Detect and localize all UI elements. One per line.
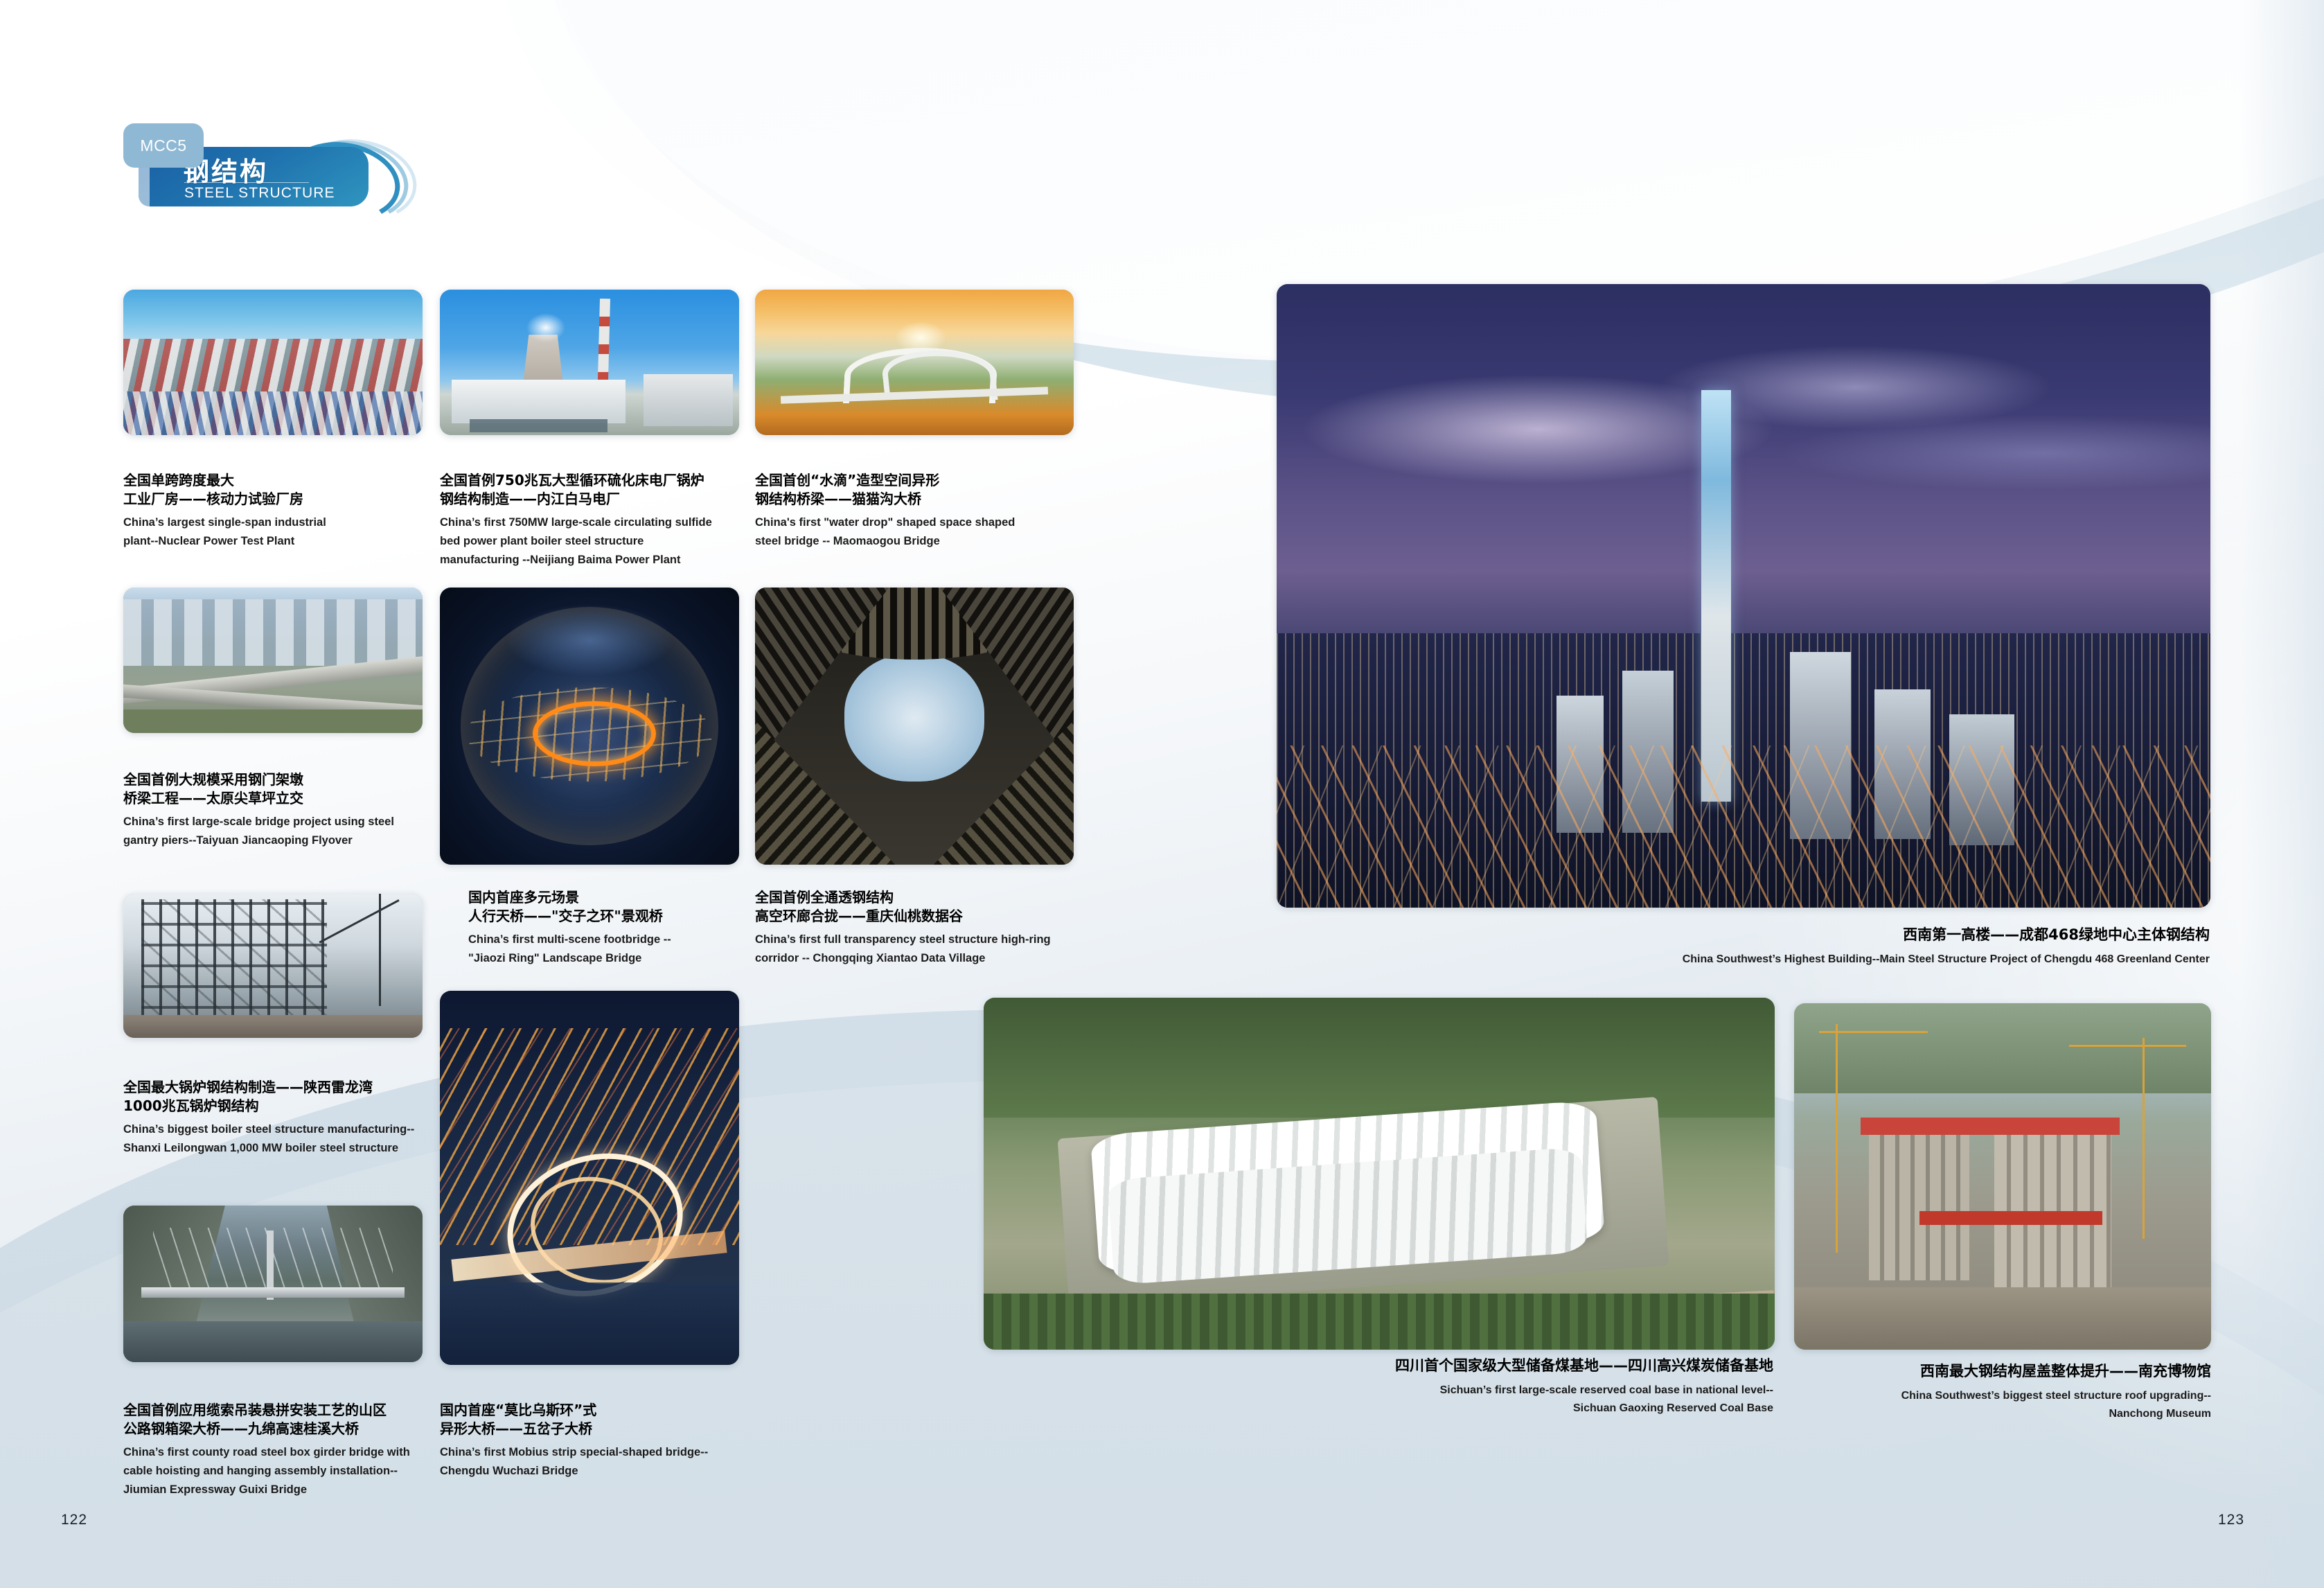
caption-title-en: China’s first large-scale bridge project… (123, 813, 435, 849)
section-header: 钢结构 STEEL STRUCTURE MCC5 (123, 123, 400, 208)
photo-neijiang-baima-power-plant (440, 290, 739, 435)
scene-high-ring-corridor (755, 588, 1074, 865)
photo-nanchong-museum (1794, 1003, 2211, 1350)
photo-chongqing-xiantao-data-village (755, 588, 1074, 865)
caption-title-cn: 西南第一高楼——成都468绿地中心主体钢结构 (1316, 926, 2210, 945)
photo-nuclear-power-test-plant (123, 290, 423, 435)
caption-title-en: China’s first 750MW large-scale circulat… (440, 513, 759, 569)
caption-title-cn: 全国首创“水滴”造型空间异形 钢结构桥梁——猫猫沟大桥 (755, 471, 1081, 508)
scene-industrial-plant (123, 290, 423, 435)
caption-chongqing-xiantao-data-village: 全国首例全通透钢结构 高空环廊合拢——重庆仙桃数据谷 China’s first… (755, 888, 1088, 968)
page-edge-shading (2241, 0, 2324, 1588)
caption-title-cn: 全国首例全通透钢结构 高空环廊合拢——重庆仙桃数据谷 (755, 888, 1088, 925)
caption-title-en: China's first "water drop" shaped space … (755, 513, 1081, 550)
scene-canyon-cable-bridge (123, 1206, 423, 1362)
caption-sichuan-gaoxing-reserved-coal-base: 四川首个国家级大型储备煤基地——四川高兴煤炭储备基地 Sichuan’s fir… (1039, 1357, 1773, 1418)
scene-fisheye-ring-bridge (440, 588, 739, 865)
header-divider (184, 182, 309, 183)
caption-title-en: China’s first Mobius strip special-shape… (440, 1443, 745, 1480)
caption-title-cn: 国内首座“莫比乌斯环”式 异形大桥——五岔子大桥 (440, 1401, 745, 1438)
caption-title-en: China’s largest single-span industrial p… (123, 513, 428, 550)
caption-jiumian-expressway-guixi-bridge: 全国首例应用缆索吊装悬拼安装工艺的山区 公路钢箱梁大桥——九绵高速桂溪大桥 Ch… (123, 1401, 435, 1499)
caption-title-cn: 全国首例750兆瓦大型循环硫化床电厂锅炉 钢结构制造——内江白马电厂 (440, 471, 759, 508)
caption-neijiang-baima-power-plant: 全国首例750兆瓦大型循环硫化床电厂锅炉 钢结构制造——内江白马电厂 China… (440, 471, 759, 569)
magazine-spread: 钢结构 STEEL STRUCTURE MCC5 (0, 0, 2324, 1588)
caption-title-en: China’s biggest boiler steel structure m… (123, 1120, 435, 1157)
caption-title-cn: 全国最大锅炉钢结构制造——陕西雷龙湾 1000兆瓦锅炉钢结构 (123, 1078, 435, 1115)
caption-title-en: Sichuan’s first large-scale reserved coa… (1039, 1382, 1773, 1418)
caption-title-en: China’s first county road steel box gird… (123, 1443, 435, 1499)
page-number-right: 123 (2218, 1512, 2244, 1528)
caption-title-cn: 全国单跨跨度最大 工业厂房——核动力试验厂房 (123, 471, 428, 508)
caption-title-cn: 国内首座多元场景 人行天桥——"交子之环"景观桥 (468, 888, 759, 925)
scene-city-flyover (123, 588, 423, 733)
caption-title-en: China’s first full transparency steel st… (755, 930, 1088, 967)
caption-title-en: China Southwest’s Highest Building--Main… (1316, 951, 2210, 969)
caption-nuclear-power-test-plant: 全国单跨跨度最大 工业厂房——核动力试验厂房 China’s largest s… (123, 471, 428, 551)
caption-title-cn: 全国首例应用缆索吊装悬拼安装工艺的山区 公路钢箱梁大桥——九绵高速桂溪大桥 (123, 1401, 435, 1438)
photo-jiumian-expressway-guixi-bridge (123, 1206, 423, 1362)
photo-shanxi-leilongwan-boiler (123, 894, 423, 1038)
caption-title-cn: 全国首例大规模采用钢门架墩 桥梁工程——太原尖草坪立交 (123, 770, 435, 807)
caption-title-en: China Southwest’s biggest steel structur… (1801, 1387, 2211, 1423)
section-title-en: STEEL STRUCTURE (184, 185, 335, 202)
photo-chengdu-wuchazi-bridge (440, 991, 739, 1365)
scene-arch-bridge-sunset (755, 290, 1074, 435)
scene-coal-storage-domes (984, 998, 1775, 1350)
page-number-left: 122 (61, 1512, 87, 1528)
caption-title-cn: 四川首个国家级大型储备煤基地——四川高兴煤炭储备基地 (1039, 1357, 1773, 1376)
caption-chengdu-468-greenland-center: 西南第一高楼——成都468绿地中心主体钢结构 China Southwest’s… (1316, 926, 2210, 969)
scene-boiler-steel-structure (123, 894, 423, 1038)
photo-sichuan-gaoxing-reserved-coal-base (984, 998, 1775, 1350)
photo-jiaozi-ring-landscape-bridge (440, 588, 739, 865)
caption-maomaogou-bridge: 全国首创“水滴”造型空间异形 钢结构桥梁——猫猫沟大桥 China's firs… (755, 471, 1081, 551)
caption-taiyuan-jiancaoping-flyover: 全国首例大规模采用钢门架墩 桥梁工程——太原尖草坪立交 China’s firs… (123, 770, 435, 850)
scene-chengdu-468-tower (1277, 284, 2210, 908)
section-tag-badge: MCC5 (123, 123, 204, 168)
caption-jiaozi-ring-landscape-bridge: 国内首座多元场景 人行天桥——"交子之环"景观桥 China’s first m… (468, 888, 759, 968)
photo-maomaogou-bridge (755, 290, 1074, 435)
photo-chengdu-468-greenland-center (1277, 284, 2210, 908)
scene-power-plant (440, 290, 739, 435)
scene-museum-construction (1794, 1003, 2211, 1350)
caption-title-cn: 西南最大钢结构屋盖整体提升——南充博物馆 (1801, 1362, 2211, 1382)
caption-nanchong-museum: 西南最大钢结构屋盖整体提升——南充博物馆 China Southwest’s b… (1801, 1362, 2211, 1423)
caption-shanxi-leilongwan-boiler: 全国最大锅炉钢结构制造——陕西雷龙湾 1000兆瓦锅炉钢结构 China’s b… (123, 1078, 435, 1158)
scene-mobius-bridge-night (440, 991, 739, 1365)
caption-title-en: China’s first multi-scene footbridge -- … (468, 930, 759, 967)
caption-chengdu-wuchazi-bridge: 国内首座“莫比乌斯环”式 异形大桥——五岔子大桥 China’s first M… (440, 1401, 745, 1481)
photo-taiyuan-jiancaoping-flyover (123, 588, 423, 733)
